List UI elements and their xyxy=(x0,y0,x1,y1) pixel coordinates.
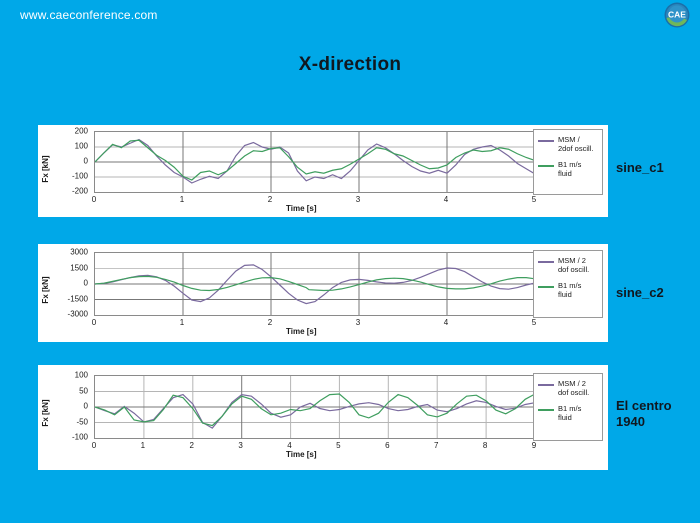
chart1-y-axis-label: Fx [kN] xyxy=(41,155,50,182)
chart1-ytick: -100 xyxy=(72,172,88,181)
chart2-ytick: 0 xyxy=(84,279,88,288)
legend-item: B1 m/s fluid xyxy=(538,160,598,179)
chart2-x-axis-label: Time [s] xyxy=(286,327,317,336)
chart1-xtick: 3 xyxy=(356,195,360,204)
site-url-text: www.caeconference.com xyxy=(20,8,158,22)
chart3-plot-area xyxy=(94,375,536,439)
chart3-legend: MSM / 2 dof oscill. B1 m/s fluid xyxy=(533,373,603,441)
chart1-x-axis-label: Time [s] xyxy=(286,204,317,213)
chart3-xtick: 8 xyxy=(483,441,487,450)
chart3-xtick: 4 xyxy=(287,441,291,450)
legend-item: B1 m/s fluid xyxy=(538,281,598,300)
caption-sine-c1: sine_c1 xyxy=(616,160,664,176)
chart2-ytick: 3000 xyxy=(70,248,88,257)
legend-swatch-msm-icon xyxy=(538,140,554,142)
legend-item: B1 m/s fluid xyxy=(538,404,598,423)
chart3-ytick: -50 xyxy=(76,417,88,426)
chart3-xtick: 1 xyxy=(141,441,145,450)
chart1-xtick: 4 xyxy=(444,195,448,204)
legend-swatch-msm-icon xyxy=(538,261,554,263)
chart1-xtick: 1 xyxy=(180,195,184,204)
chart2-legend: MSM / 2 dof oscill. B1 m/s fluid xyxy=(533,250,603,318)
legend-item: MSM / 2dof oscill. xyxy=(538,135,598,154)
chart2-ytick: 1500 xyxy=(70,263,88,272)
chart3-xtick: 7 xyxy=(434,441,438,450)
legend-swatch-fluid-icon xyxy=(538,286,554,288)
chart2-plot-area xyxy=(94,252,536,316)
chart1-xtick: 2 xyxy=(268,195,272,204)
legend-label: MSM / 2 dof oscill. xyxy=(558,256,589,275)
svg-text:CAE: CAE xyxy=(668,10,686,20)
legend-label: B1 m/s fluid xyxy=(558,281,581,300)
legend-label: MSM / 2dof oscill. xyxy=(558,135,593,154)
chart3-xtick: 9 xyxy=(532,441,536,450)
chart3-ytick: 100 xyxy=(75,371,88,380)
chart1-legend: MSM / 2dof oscill. B1 m/s fluid xyxy=(533,129,603,195)
legend-label: MSM / 2 dof oscill. xyxy=(558,379,589,398)
chart3-ytick: 50 xyxy=(79,386,88,395)
chart1-series-msm xyxy=(95,140,535,184)
chart-panel-el-centro-1940: Fx [kN] 100 50 0 -50 -100 xyxy=(38,365,608,470)
chart1-ytick: -200 xyxy=(72,187,88,196)
chart1-xtick: 0 xyxy=(92,195,96,204)
legend-item: MSM / 2 dof oscill. xyxy=(538,379,598,398)
legend-swatch-fluid-icon xyxy=(538,165,554,167)
chart1-xtick: 5 xyxy=(532,195,536,204)
chart-panel-sine-c2: Fx [kN] 3000 1500 0 -1500 -3000 xyxy=(38,244,608,342)
chart1-ytick: 200 xyxy=(75,127,88,136)
caption-sine-c2: sine_c2 xyxy=(616,285,664,301)
chart2-series-fluid xyxy=(95,276,535,290)
chart3-xtick: 2 xyxy=(190,441,194,450)
chart3-ytick: -100 xyxy=(72,433,88,442)
chart1-ytick: 0 xyxy=(84,157,88,166)
chart3-ytick: 0 xyxy=(84,402,88,411)
chart3-xtick: 3 xyxy=(238,441,242,450)
caption-el-centro-1940: El centro 1940 xyxy=(616,398,672,431)
legend-label: B1 m/s fluid xyxy=(558,404,581,423)
legend-item: MSM / 2 dof oscill. xyxy=(538,256,598,275)
cae-conference-logo-icon: CAE xyxy=(662,1,692,29)
chart2-xtick: 1 xyxy=(180,318,184,327)
chart-panel-sine-c1: Fx [kN] 200 100 0 -100 -200 xyxy=(38,125,608,217)
chart3-xtick: 5 xyxy=(336,441,340,450)
legend-swatch-msm-icon xyxy=(538,384,554,386)
chart3-x-axis-label: Time [s] xyxy=(286,450,317,459)
page-title: X-direction xyxy=(0,54,700,76)
chart2-xtick: 2 xyxy=(268,318,272,327)
chart2-ytick: -3000 xyxy=(68,310,88,319)
chart3-series-fluid xyxy=(95,394,535,426)
chart1-ytick: 100 xyxy=(75,142,88,151)
chart3-y-axis-label: Fx [kN] xyxy=(41,399,50,426)
header-bar: www.caeconference.com CAE xyxy=(0,0,700,30)
chart1-plot-area xyxy=(94,131,536,193)
legend-label: B1 m/s fluid xyxy=(558,160,581,179)
chart2-ytick: -1500 xyxy=(68,294,88,303)
legend-swatch-fluid-icon xyxy=(538,409,554,411)
chart3-xtick: 0 xyxy=(92,441,96,450)
chart2-xtick: 3 xyxy=(356,318,360,327)
chart2-xtick: 4 xyxy=(444,318,448,327)
chart3-xtick: 6 xyxy=(385,441,389,450)
chart2-xtick: 0 xyxy=(92,318,96,327)
chart2-xtick: 5 xyxy=(532,318,536,327)
